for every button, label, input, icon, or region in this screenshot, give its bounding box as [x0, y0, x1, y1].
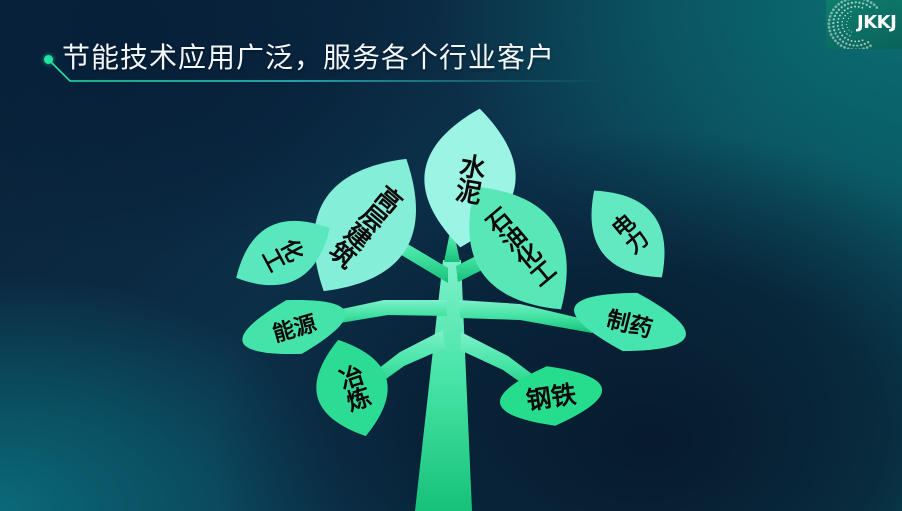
- leaf-smelting[interactable]: [304, 330, 400, 446]
- leaf-pharma[interactable]: [567, 279, 693, 365]
- industry-tree-diagram: [0, 0, 902, 511]
- presentation-slide: 节能技术应用广泛，服务各个行业客户 JKKJ: [0, 0, 902, 511]
- leaf-power[interactable]: [569, 171, 687, 297]
